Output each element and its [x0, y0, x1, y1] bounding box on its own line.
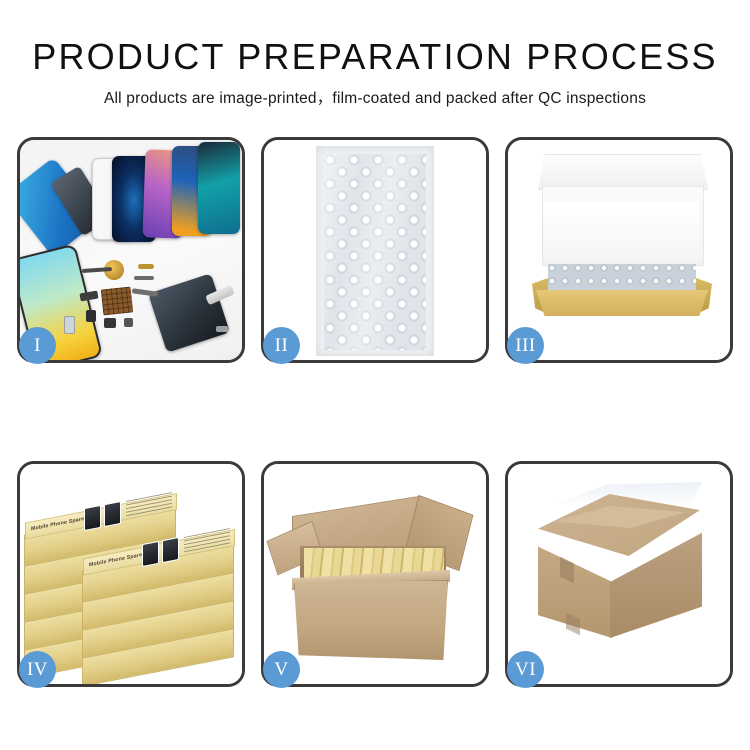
- box-label-spec-lines: [126, 492, 172, 519]
- page-title: PRODUCT PREPARATION PROCESS: [0, 0, 750, 76]
- sealed-carton-icon: [508, 464, 730, 684]
- box-label-screen-image: [104, 501, 121, 527]
- foam-padding: [544, 202, 700, 260]
- box-label-spec-lines: [184, 528, 230, 555]
- process-step-1: I: [17, 137, 245, 363]
- bubble-wrapped-contents: [548, 264, 696, 292]
- box-stack: Mobile Phone Spare Parts Mobile Phone Sp…: [24, 482, 238, 672]
- step-badge-4: IV: [19, 651, 56, 688]
- page-subtitle: All products are image-printed，film-coat…: [0, 76, 750, 108]
- bubble-wrap-icon: [264, 140, 486, 360]
- step-badge-6: VI: [507, 651, 544, 688]
- step-badge-5: V: [263, 651, 300, 688]
- phones-and-spare-parts-icon: [20, 140, 242, 360]
- connector-grid-part: [101, 287, 134, 316]
- step-badge-3: III: [507, 327, 544, 364]
- open-carton-icon: [264, 464, 486, 684]
- taptic-part: [104, 318, 116, 328]
- process-step-3: III: [505, 137, 733, 363]
- box-lid-printed: Mobile Phone Spare Parts: [25, 493, 177, 540]
- box-lid: [538, 154, 708, 190]
- sim-tray-part: [64, 316, 75, 334]
- box-label-screen-image: [84, 505, 101, 531]
- antenna-flex-part: [132, 288, 158, 297]
- gold-bracket-part: [138, 264, 154, 269]
- process-steps-grid: I II III: [17, 137, 733, 687]
- product-preparation-infographic: PRODUCT PREPARATION PROCESS All products…: [0, 0, 750, 750]
- camera-module-part: [79, 290, 98, 301]
- header: PRODUCT PREPARATION PROCESS All products…: [0, 0, 750, 108]
- box-front-wall: [536, 290, 708, 316]
- process-step-6: VI: [505, 461, 733, 687]
- process-step-4: Mobile Phone Spare Parts Mobile Phone Sp…: [17, 461, 245, 687]
- screw-plate-part: [124, 318, 133, 327]
- screwdriver-tool: [216, 326, 228, 332]
- phone-teal-back: [198, 142, 240, 234]
- process-step-2: II: [261, 137, 489, 363]
- speaker-part: [86, 310, 96, 322]
- bubble-wrap-highlight: [324, 154, 426, 350]
- step-badge-1: I: [19, 327, 56, 364]
- button-flex-part: [134, 276, 154, 280]
- step-badge-2: II: [263, 327, 300, 364]
- box-label-screen-image: [142, 541, 159, 567]
- open-inner-box-icon: [508, 140, 730, 360]
- logic-board: [148, 273, 230, 352]
- box-label-screen-image: [162, 537, 179, 563]
- stacked-boxes-icon: Mobile Phone Spare Parts Mobile Phone Sp…: [20, 464, 242, 684]
- process-step-5: V: [261, 461, 489, 687]
- carton-body: [294, 580, 448, 660]
